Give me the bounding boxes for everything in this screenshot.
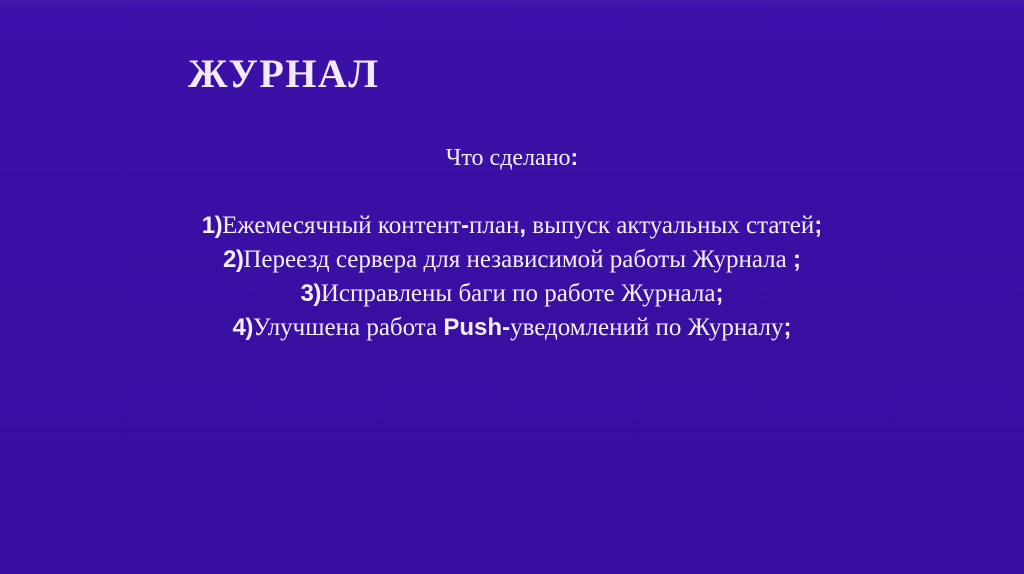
- list-item-text: Ежемесячный контент: [222, 212, 461, 239]
- list-item-number: 3): [301, 280, 321, 307]
- list-item: 4)Улучшена работа Push-уведомлений по Жу…: [0, 311, 1024, 345]
- list-item-text: Улучшена работа: [253, 314, 444, 341]
- list-item-semicolon: ;: [715, 280, 723, 307]
- list-item-text: Переезд сервера для независимой работы Ж…: [243, 246, 793, 273]
- subtitle-label: Что сделано: [446, 145, 571, 171]
- presentation-slide: ЖУРНАЛ Что сделано: 1)Ежемесячный контен…: [0, 0, 1024, 574]
- list-item-hyphen: -: [502, 314, 510, 341]
- list-item: 1)Ежемесячный контент-план, выпуск актуа…: [0, 209, 1024, 243]
- list-item-semicolon: ;: [793, 246, 801, 273]
- list-item-semicolon: ;: [814, 212, 822, 239]
- slide-body: Что сделано: 1)Ежемесячный контент-план,…: [0, 142, 1024, 345]
- list-item-text: Исправлены баги по работе Журнала: [321, 280, 716, 307]
- list-item-latin-word: Push: [443, 314, 502, 341]
- list-item: 3)Исправлены баги по работе Журнала;: [0, 277, 1024, 311]
- list-item-semicolon: ;: [784, 314, 792, 341]
- list-item-hyphen: -: [461, 212, 469, 239]
- list-item-number: 2): [223, 246, 243, 273]
- subtitle: Что сделано:: [0, 142, 1024, 173]
- list-item-number: 1): [202, 212, 222, 239]
- list-item-text-c: выпуск актуальных статей: [526, 212, 814, 239]
- achievement-list: 1)Ежемесячный контент-план, выпуск актуа…: [0, 209, 1024, 345]
- list-item: 2)Переезд сервера для независимой работы…: [0, 243, 1024, 277]
- subtitle-colon: :: [571, 144, 579, 170]
- list-item-number: 4): [232, 314, 252, 341]
- list-item-text-b: уведомлений по Журналу: [510, 314, 783, 341]
- list-item-text-b: план: [469, 212, 519, 239]
- page-title: ЖУРНАЛ: [188, 51, 380, 97]
